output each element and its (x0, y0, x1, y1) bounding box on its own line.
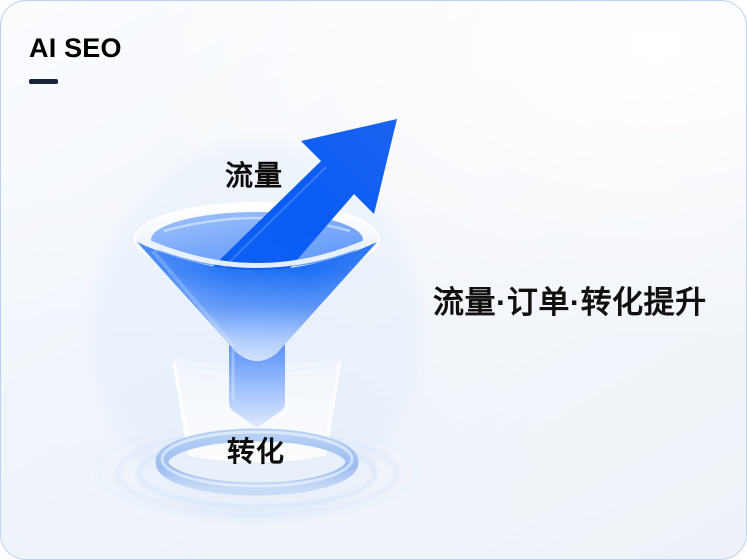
tagline: 流量·订单·转化提升 (433, 277, 707, 322)
label-traffic: 流量 (225, 154, 283, 194)
label-conversion: 转化 (227, 430, 285, 470)
ai-seo-card: AI SEO (0, 0, 747, 560)
